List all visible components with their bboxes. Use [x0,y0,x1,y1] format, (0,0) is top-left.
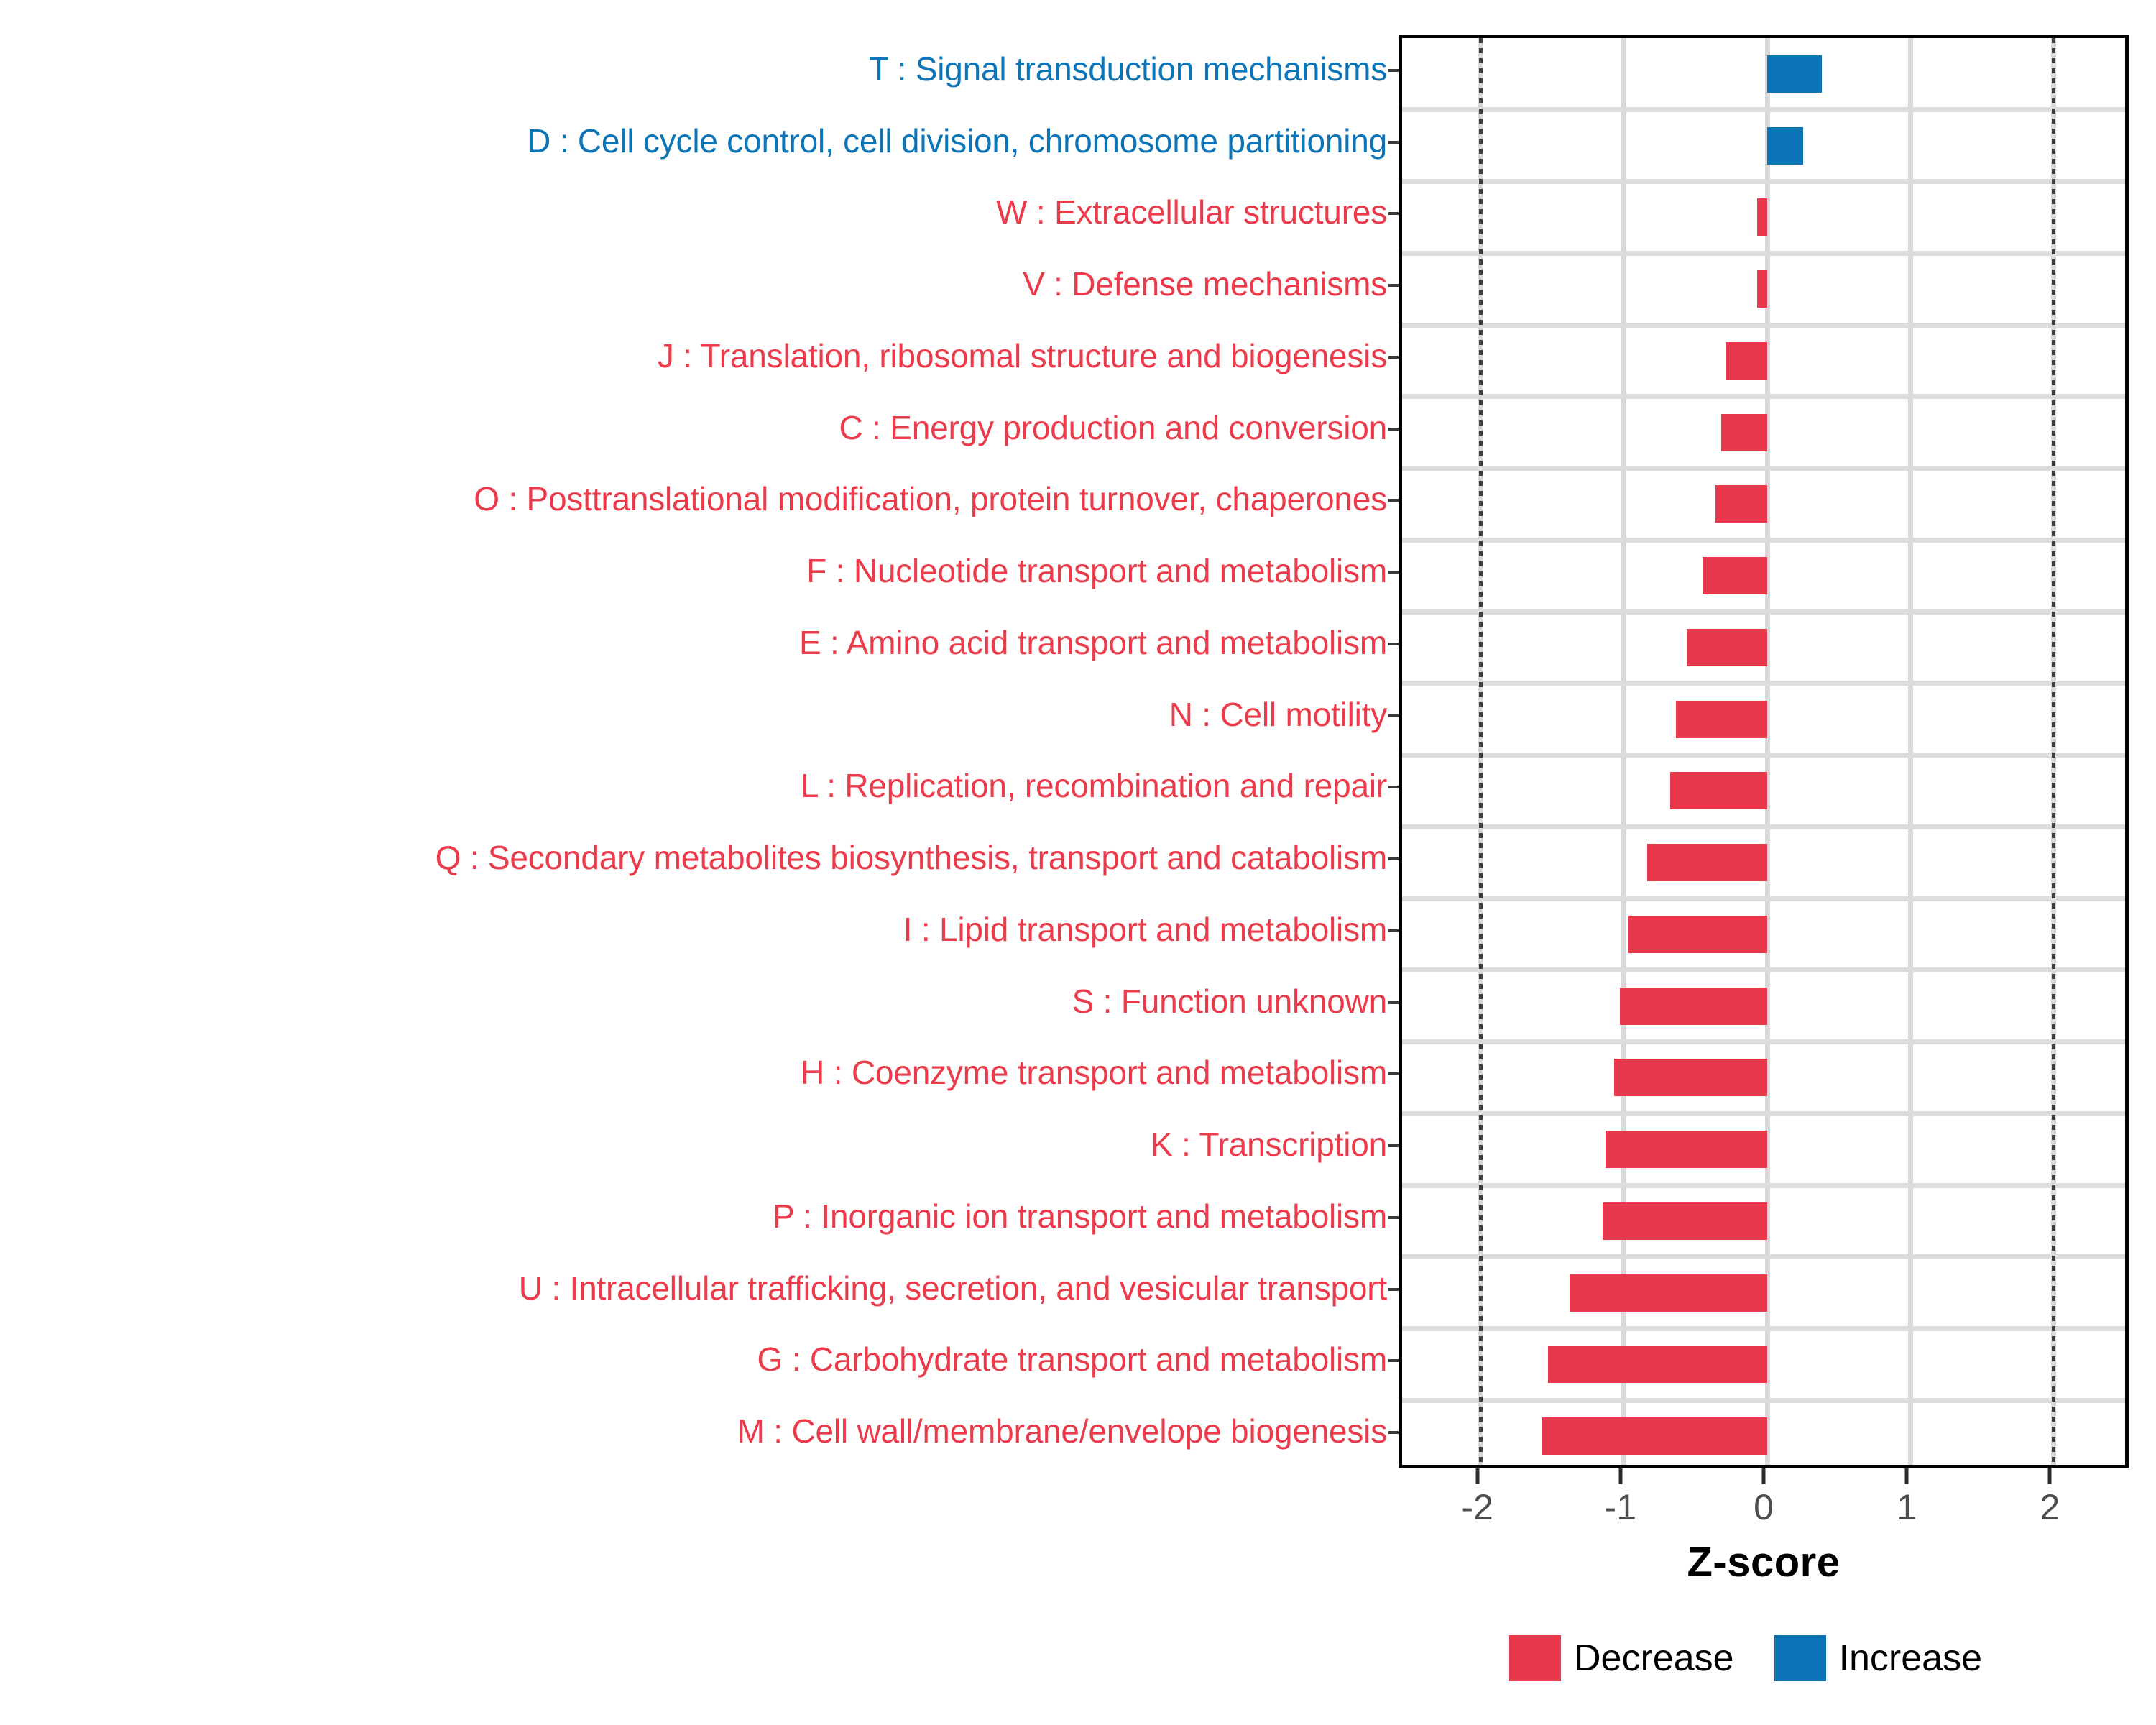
y-axis-tick [1388,428,1399,431]
legend-swatch [1509,1635,1561,1681]
x-axis-tick [1618,1468,1622,1484]
legend-label: Increase [1839,1635,1982,1681]
y-axis-tick [1388,1072,1399,1075]
y-axis-tick [1388,571,1399,574]
bar [1721,414,1767,451]
y-axis-labels: T : Signal transduction mechanismsD : Ce… [0,34,1387,1468]
bar [1628,916,1767,953]
bar [1606,1131,1767,1168]
bar [1670,772,1767,809]
legend-item[interactable]: Increase [1774,1635,2022,1681]
bar [1757,198,1767,236]
y-axis-label: W : Extracellular structures [996,195,1387,229]
y-axis-label: F : Nucleotide transport and metabolism [806,554,1387,587]
y-axis-tick [1388,857,1399,860]
bar [1767,55,1822,93]
y-axis-tick [1388,69,1399,72]
gridline-horizontal [1402,394,2125,399]
gridline-horizontal [1402,753,2125,758]
x-axis-title: Z-score [1399,1538,2129,1586]
y-axis-label: U : Intracellular trafficking, secretion… [519,1271,1387,1305]
bar [1570,1274,1767,1312]
y-axis-tick [1388,643,1399,645]
x-axis-tick [1905,1468,1909,1484]
bar [1548,1345,1767,1383]
x-axis-tick [1475,1468,1479,1484]
gridline-horizontal [1402,251,2125,256]
reference-line [1479,38,1483,1465]
y-axis-tick [1388,786,1399,788]
bar [1542,1417,1767,1455]
gridline-horizontal [1402,538,2125,543]
y-axis-label: C : Energy production and conversion [839,411,1387,444]
x-axis-tick [2048,1468,2052,1484]
gridline-horizontal [1402,609,2125,615]
gridline-horizontal [1402,1183,2125,1188]
y-axis-label: D : Cell cycle control, cell division, c… [527,124,1387,157]
gridline-horizontal [1402,1398,2125,1403]
y-axis-label: L : Replication, recombination and repai… [801,769,1387,802]
y-axis-tick [1388,1288,1399,1291]
gridline-horizontal [1402,967,2125,972]
y-axis-label: G : Carbohydrate transport and metabolis… [757,1343,1387,1376]
reference-line [2052,38,2055,1465]
y-axis-label: O : Posttranslational modification, prot… [474,482,1387,515]
gridline-horizontal [1402,107,2125,112]
gridline-horizontal [1402,466,2125,471]
x-axis-tick-label: 2 [2040,1487,2060,1527]
y-axis-label: P : Inorganic ion transport and metaboli… [773,1200,1387,1233]
x-axis-tick [1762,1468,1766,1484]
y-axis-label: V : Defense mechanisms [1023,267,1387,300]
y-axis-tick [1388,1431,1399,1434]
y-axis-label: T : Signal transduction mechanisms [869,52,1387,86]
gridline-horizontal [1402,896,2125,901]
y-axis-tick [1388,1359,1399,1362]
bar [1703,557,1767,594]
y-axis-label: Q : Secondary metabolites biosynthesis, … [436,841,1387,874]
chart-legend: DecreaseIncrease [1509,1635,2022,1681]
y-axis-label: E : Amino acid transport and metabolism [799,626,1387,659]
gridline-horizontal [1402,1039,2125,1044]
y-axis-tick [1388,1001,1399,1004]
gridline-horizontal [1402,1111,2125,1116]
bar [1614,1059,1767,1096]
y-axis-tick [1388,141,1399,144]
x-axis-tick-label: -1 [1605,1487,1636,1527]
legend-item[interactable]: Decrease [1509,1635,1774,1681]
bar [1687,629,1767,666]
gridline-horizontal [1402,1326,2125,1331]
y-axis-tick [1388,1144,1399,1147]
y-axis-tick [1388,212,1399,215]
bar [1676,701,1767,738]
gridline-horizontal [1402,179,2125,184]
y-axis-tick [1388,356,1399,359]
y-axis-tick [1388,284,1399,287]
gridline-horizontal [1402,824,2125,829]
gridline-horizontal [1402,323,2125,328]
bar [1715,485,1767,523]
y-axis-label: J : Translation, ribosomal structure and… [658,339,1387,372]
y-axis-label: S : Function unknown [1072,985,1387,1018]
y-axis-label: H : Coenzyme transport and metabolism [801,1056,1387,1089]
y-axis-tick [1388,499,1399,502]
chart-figure: T : Signal transduction mechanismsD : Ce… [0,0,2156,1725]
x-axis-tick-label: 1 [1897,1487,1917,1527]
y-axis-tick [1388,1216,1399,1219]
y-axis-label: N : Cell motility [1169,698,1387,731]
legend-swatch [1774,1635,1826,1681]
bar [1647,844,1767,881]
gridline-horizontal [1402,1254,2125,1259]
y-axis-tick [1388,714,1399,717]
legend-label: Decrease [1574,1635,1734,1681]
bar [1726,342,1767,379]
bar [1767,127,1803,165]
plot-panel [1399,34,2129,1468]
y-axis-label: K : Transcription [1151,1128,1387,1161]
y-axis-label: I : Lipid transport and metabolism [903,913,1387,946]
bar [1620,988,1767,1025]
bar [1757,270,1767,308]
gridline-horizontal [1402,681,2125,686]
bar [1603,1202,1767,1240]
x-axis-tick-label: -2 [1461,1487,1493,1527]
y-axis-tick [1388,929,1399,932]
y-axis-label: M : Cell wall/membrane/envelope biogenes… [737,1414,1387,1448]
x-axis-tick-label: 0 [1754,1487,1774,1527]
